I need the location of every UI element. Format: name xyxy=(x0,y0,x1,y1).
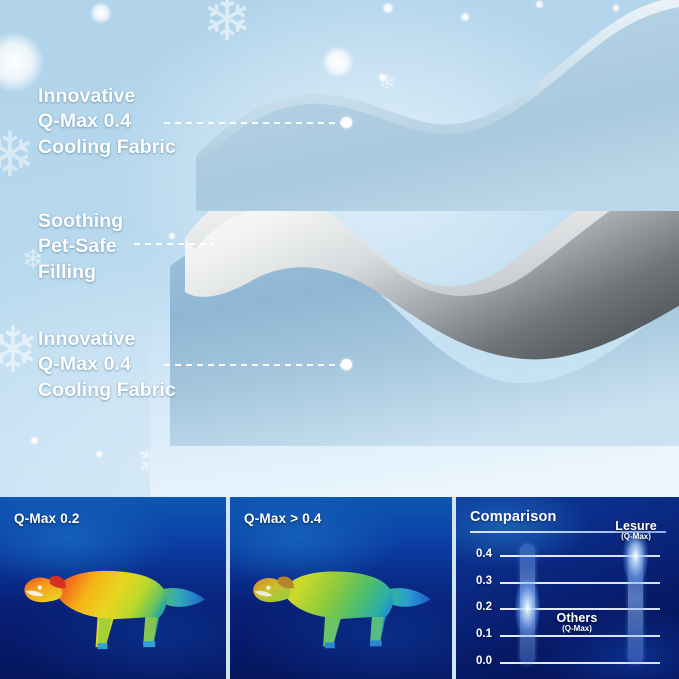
callout-bottom-fabric: Innovative Q-Max 0.4 Cooling Fabric xyxy=(38,327,176,403)
ytick-label-0-0: 0.0 xyxy=(462,655,492,667)
bar-lesure xyxy=(628,544,643,664)
bar-label-lesure-sub: (Q-Max) xyxy=(596,532,676,541)
callout-top-fabric: Innovative Q-Max 0.4 Cooling Fabric xyxy=(38,84,176,160)
bar-label-lesure-name: Lesure xyxy=(596,519,676,533)
panel-divider xyxy=(226,497,230,679)
bokeh-dot xyxy=(0,32,44,92)
bar-others xyxy=(520,544,535,664)
thermal-dog-hot-icon xyxy=(14,544,213,657)
fabric-layer-top-blue xyxy=(196,0,679,211)
leader-dot-top xyxy=(341,117,352,128)
leader-line-middle xyxy=(134,243,214,245)
callout-filling: Soothing Pet-Safe Filling xyxy=(38,209,123,285)
chart-plot-area: 0.4 0.3 0.2 0.1 0.0 Others (Q-Max) xyxy=(456,535,679,679)
bar-others-glow xyxy=(515,579,540,637)
bar-label-others: Others (Q-Max) xyxy=(540,611,614,633)
thermal-panel-low-qmax-label: Q-Max 0.2 xyxy=(14,511,80,526)
callout-bottom-fabric-label: Innovative Q-Max 0.4 Cooling Fabric xyxy=(38,327,176,403)
ytick-label-0-2: 0.2 xyxy=(462,601,492,613)
chart-title: Comparison xyxy=(470,509,557,525)
leader-line-top xyxy=(164,122,346,124)
snowflake-icon: ❄ xyxy=(0,125,36,187)
ytick-label-0-1: 0.1 xyxy=(462,628,492,640)
leader-line-bottom xyxy=(164,364,346,366)
hero-section: ❄ ❄ ❄ ❄ ❄ ❄ ❄ ❄ ❄ xyxy=(0,0,679,497)
snowflake-icon: ❄ xyxy=(0,318,40,382)
callout-filling-label: Soothing Pet-Safe Filling xyxy=(38,209,123,285)
comparison-panels: Q-Max 0.2 xyxy=(0,497,679,679)
bar-label-others-sub: (Q-Max) xyxy=(540,624,614,633)
infographic-root: ❄ ❄ ❄ ❄ ❄ ❄ ❄ ❄ ❄ xyxy=(0,0,679,679)
thermal-panel-high-qmax-label: Q-Max > 0.4 xyxy=(244,511,322,526)
ytick-label-0-4: 0.4 xyxy=(462,548,492,560)
comparison-chart-panel: Comparison 0.4 0.3 0.2 0.1 0.0 xyxy=(456,497,679,679)
bokeh-dot xyxy=(30,436,39,445)
thermal-panel-low-qmax: Q-Max 0.2 xyxy=(0,497,226,679)
ytick-label-0-3: 0.3 xyxy=(462,575,492,587)
bokeh-dot xyxy=(90,2,112,24)
thermal-dog-cool-icon xyxy=(243,544,438,657)
leader-dot-bottom xyxy=(341,359,352,370)
bokeh-dot xyxy=(95,450,103,458)
bar-label-lesure: Lesure (Q-Max) xyxy=(596,519,676,541)
thermal-panel-high-qmax: Q-Max > 0.4 xyxy=(230,497,452,679)
bar-label-others-name: Others xyxy=(540,611,614,625)
callout-top-fabric-label: Innovative Q-Max 0.4 Cooling Fabric xyxy=(38,84,176,160)
panel-divider xyxy=(452,497,456,679)
